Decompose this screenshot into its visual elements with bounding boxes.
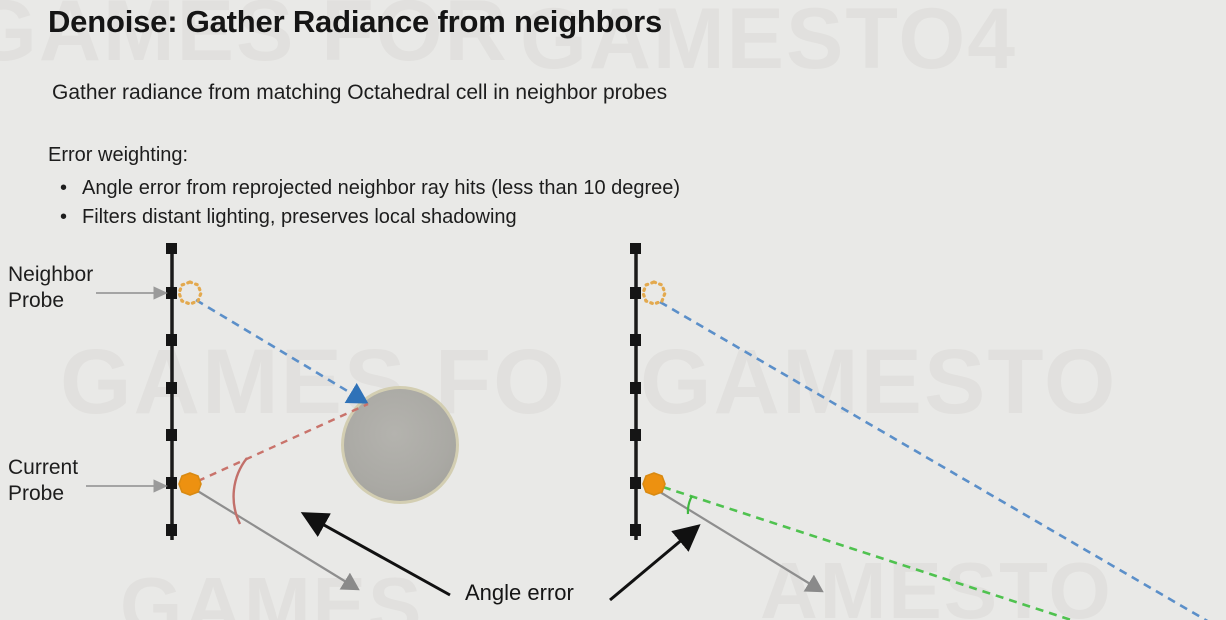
- current-probe-marker: [643, 473, 665, 495]
- wall-tick: [630, 334, 641, 346]
- angle-arc-red: [234, 458, 247, 524]
- wall-tick: [630, 429, 641, 441]
- wall-tick: [630, 524, 641, 536]
- neighbor-probe-marker: [643, 282, 665, 304]
- wall-tick: [166, 524, 177, 536]
- angle-error-arrow-left: [306, 515, 450, 595]
- neighbor-probe-marker: [179, 282, 201, 304]
- left-panel-group: [86, 243, 459, 588]
- wall-tick: [166, 243, 177, 254]
- right-wall: [630, 243, 641, 540]
- neighbor-ray-blue: [660, 302, 1226, 620]
- current-ray-gray: [196, 490, 356, 588]
- angle-error-arrow-right: [610, 528, 696, 600]
- wall-tick: [166, 287, 177, 299]
- wall-tick: [166, 334, 177, 346]
- wall-tick: [630, 382, 641, 394]
- wall-tick: [166, 429, 177, 441]
- occluder-sphere: [341, 386, 459, 504]
- current-probe-marker: [179, 473, 201, 495]
- slide-root: GAMES FOR GAMESTO4 GAMES FO GAMESTO GAME…: [0, 0, 1226, 620]
- left-wall: [166, 243, 177, 540]
- wall-tick: [630, 477, 641, 489]
- right-panel-group: [630, 243, 1226, 620]
- neighbor-ray-blue: [196, 300, 364, 401]
- wall-tick: [166, 477, 177, 489]
- wall-tick: [630, 287, 641, 299]
- probe-diagram: [0, 0, 1226, 620]
- current-ray-gray: [660, 492, 820, 590]
- wall-tick: [630, 243, 641, 254]
- wall-tick: [166, 382, 177, 394]
- matching-ray-green: [663, 487, 1226, 620]
